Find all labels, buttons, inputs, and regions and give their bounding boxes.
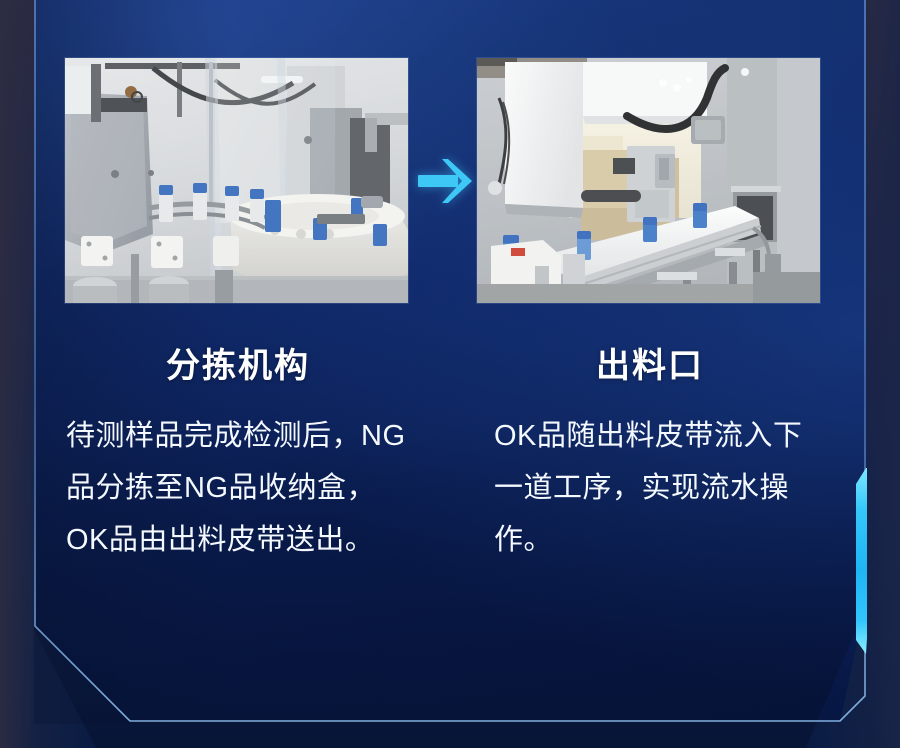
photo-sorting-mechanism <box>65 58 408 303</box>
photo-discharge-port <box>477 58 820 303</box>
column-body-sorting-mechanism: 待测样品完成检测后，NG品分拣至NG品收纳盒，OK品由出料皮带送出。 <box>60 410 416 566</box>
column-title-sorting-mechanism: 分拣机构 <box>60 344 416 388</box>
column-body-discharge-port: OK品随出料皮带流入下一道工序，实现流水操作。 <box>472 410 828 566</box>
column-sorting-mechanism: 分拣机构 待测样品完成检测后，NG品分拣至NG品收纳盒，OK品由出料皮带送出。 <box>60 344 416 566</box>
column-title-discharge-port: 出料口 <box>472 344 828 388</box>
cyan-accent-bar <box>856 468 867 654</box>
right-arrow-icon <box>418 156 474 206</box>
column-discharge-port: 出料口 OK品随出料皮带流入下一道工序，实现流水操作。 <box>472 344 828 566</box>
